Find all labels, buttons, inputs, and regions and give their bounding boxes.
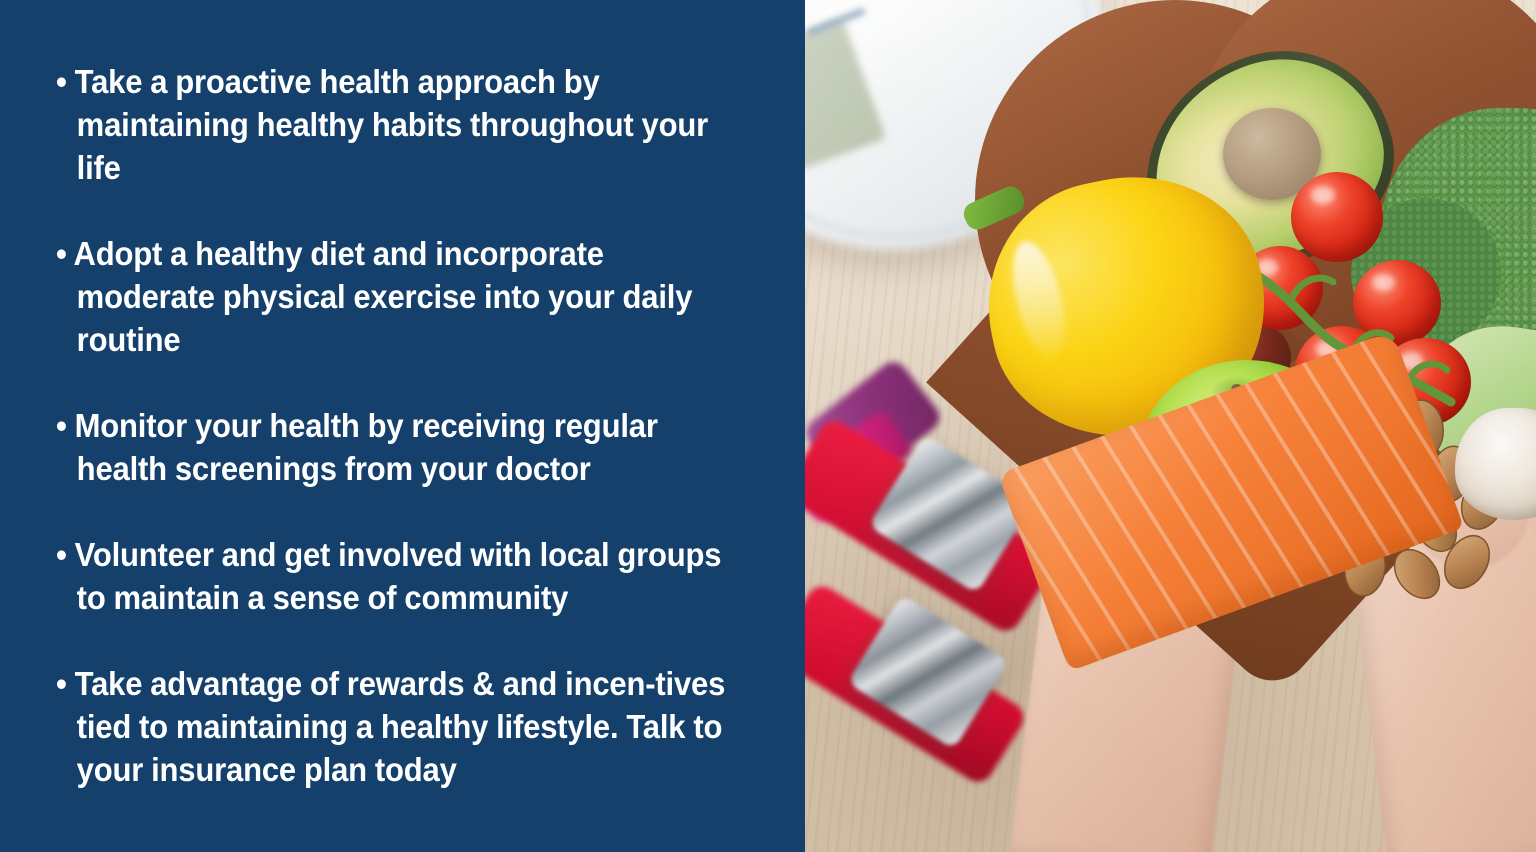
bullet-list: • Take a proactive health approach by ma… — [56, 60, 787, 791]
food-arrangement — [955, 0, 1536, 660]
photo-panel — [805, 0, 1536, 852]
bullet-item: • Take a proactive health approach by ma… — [56, 60, 743, 189]
text-panel: • Take a proactive health approach by ma… — [0, 0, 805, 852]
bullet-item: • Adopt a healthy diet and incorporate m… — [56, 232, 743, 361]
cherry-tomato — [1291, 172, 1383, 262]
bullet-item: • Take advantage of rewards & and incen-… — [56, 662, 743, 791]
bullet-item: • Monitor your health by receiving regul… — [56, 404, 743, 490]
bullet-item: • Volunteer and get involved with local … — [56, 533, 743, 619]
slide-root: • Take a proactive health approach by ma… — [0, 0, 1536, 852]
